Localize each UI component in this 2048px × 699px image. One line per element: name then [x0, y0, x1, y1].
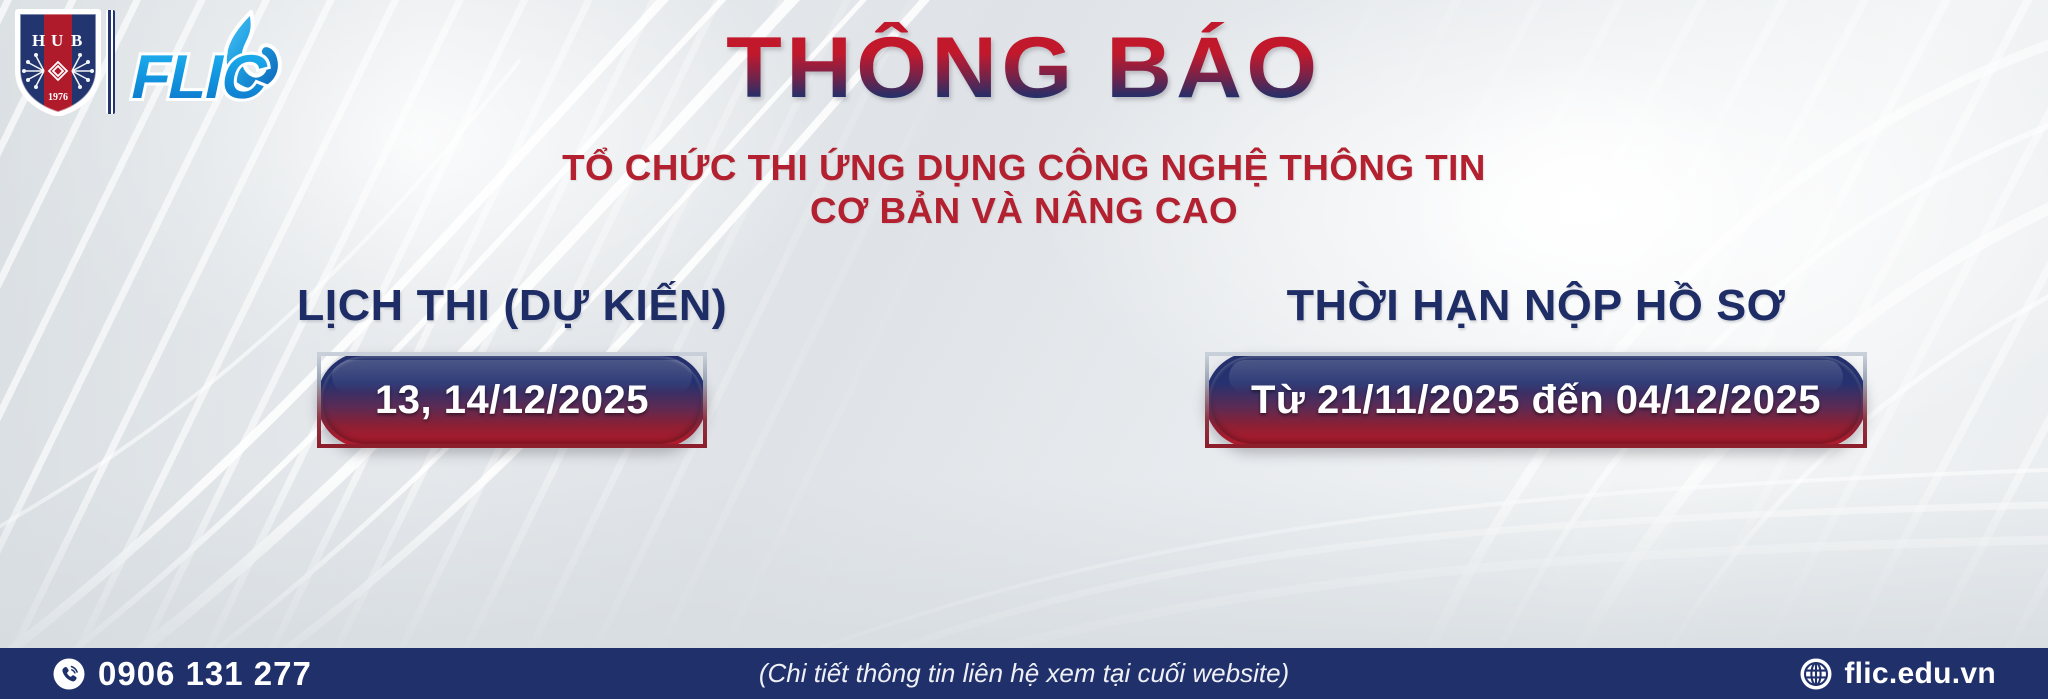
footer-contact: 0906 131 277 [0, 655, 676, 693]
info-columns: LỊCH THI (DỰ KIẾN) 13, 14/12/2025 THỜI H… [0, 280, 2048, 448]
submission-deadline-value: Từ 21/11/2025 đến 04/12/2025 [1251, 378, 1821, 423]
footer-bar: 0906 131 277 (Chi tiết thông tin liên hệ… [0, 648, 2048, 699]
notification-banner: H U B [0, 0, 2048, 699]
exam-schedule-pill[interactable]: 13, 14/12/2025 [317, 352, 707, 448]
page-title: THÔNG BÁO [726, 22, 1321, 114]
subtitle-line-1: TỔ CHỨC THI ỨNG DỤNG CÔNG NGHỆ THÔNG TIN [0, 146, 2048, 189]
footer-note-wrapper: (Chi tiết thông tin liên hệ xem tại cuối… [676, 658, 1372, 689]
footer-note: (Chi tiết thông tin liên hệ xem tại cuối… [759, 658, 1289, 688]
submission-deadline-heading: THỜI HẠN NỘP HỒ SƠ [1056, 280, 2017, 332]
exam-schedule-value: 13, 14/12/2025 [375, 378, 649, 423]
background-bottom-shade [0, 478, 2048, 648]
exam-schedule-heading: LỊCH THI (DỰ KIẾN) [32, 280, 993, 332]
footer-website-wrapper: flic.edu.vn [1372, 657, 2048, 691]
column-submission-deadline: THỜI HẠN NỘP HỒ SƠ Từ 21/11/2025 đến 04/… [1065, 280, 2007, 448]
column-exam-schedule: LỊCH THI (DỰ KIẾN) 13, 14/12/2025 [41, 280, 983, 448]
subtitle: TỔ CHỨC THI ỨNG DỤNG CÔNG NGHỆ THÔNG TIN… [0, 146, 2048, 232]
phone-in-circle-icon [52, 657, 86, 691]
globe-icon [1799, 657, 1833, 691]
footer-website[interactable]: flic.edu.vn [1844, 657, 1996, 691]
footer-phone-number[interactable]: 0906 131 277 [98, 655, 312, 693]
submission-deadline-pill[interactable]: Từ 21/11/2025 đến 04/12/2025 [1205, 352, 1867, 448]
title-wrapper: THÔNG BÁO [0, 22, 2048, 114]
subtitle-line-2: CƠ BẢN VÀ NÂNG CAO [0, 189, 2048, 232]
